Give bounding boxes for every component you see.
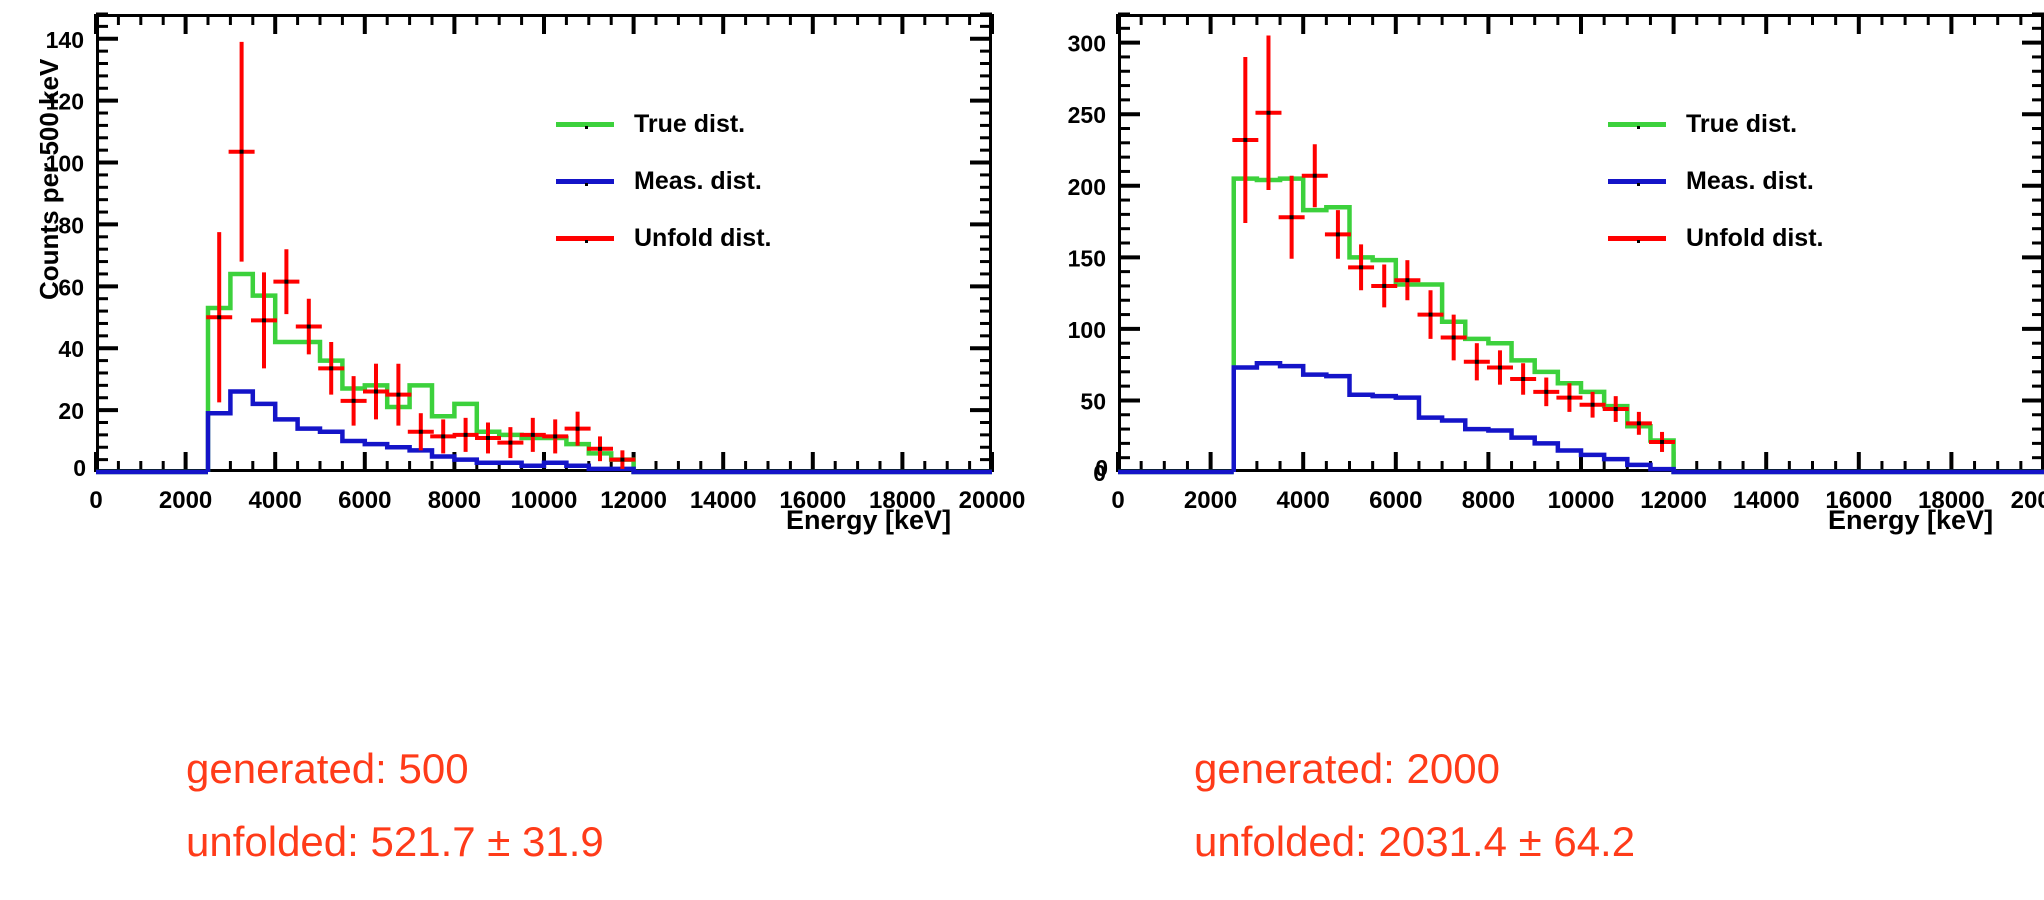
x-tick-label: 12000 — [600, 487, 667, 514]
x-tick-label: 0 — [1111, 487, 1124, 514]
plot-canvas-left: 2040608010012014000200040006000800010000… — [0, 0, 1022, 560]
data-point — [441, 434, 445, 438]
legend-item-meas-left[interactable]: Meas. dist. — [556, 167, 762, 196]
data-point — [1567, 396, 1571, 400]
data-point — [1429, 313, 1433, 317]
legend-item-meas-right[interactable]: Meas. dist. — [1608, 167, 1814, 196]
data-point — [598, 447, 602, 451]
data-point — [620, 458, 624, 462]
caption-unfolded-left: unfolded: 521.7 ± 31.9 — [186, 818, 604, 866]
x-tick-label: 14000 — [1733, 487, 1800, 514]
legend-label-meas-right: Meas. dist. — [1686, 167, 1814, 196]
x-axis-title-left: Energy [keV] — [786, 505, 951, 536]
series-true-dist — [1118, 179, 2044, 472]
caption-generated-left: generated: 500 — [186, 745, 469, 793]
data-point — [464, 433, 468, 437]
y-tick-label: 40 — [58, 336, 84, 362]
histogram-outline — [1118, 363, 2044, 472]
data-point — [329, 366, 333, 370]
legend-label-true-left: True dist. — [634, 110, 745, 139]
legend-swatch-true-right — [1608, 122, 1666, 127]
y-tick-label: 250 — [1068, 102, 1106, 128]
y-tick-label: 0 — [73, 455, 86, 481]
y-tick-label: 60 — [58, 274, 84, 300]
x-tick-label: 8000 — [1462, 487, 1515, 514]
data-point — [217, 315, 221, 319]
x-tick-label: 0 — [89, 487, 102, 514]
data-point — [1266, 111, 1270, 115]
data-point — [1637, 421, 1641, 425]
y-tick-label: 0 — [1095, 455, 1108, 481]
data-point — [352, 399, 356, 403]
y-tick-label: 100 — [46, 151, 84, 177]
x-tick-label: 4000 — [1277, 487, 1330, 514]
figure-root: Counts per 500 keV 204060801001201400020… — [0, 0, 2044, 900]
data-point — [1405, 278, 1409, 282]
x-tick-label: 4000 — [249, 487, 302, 514]
data-point — [1313, 174, 1317, 178]
data-point — [1243, 138, 1247, 142]
histogram-outline — [1118, 179, 2044, 472]
legend-item-unfold-left[interactable]: Unfold dist. — [556, 224, 771, 253]
x-tick-label: 20000 — [959, 487, 1026, 514]
data-point — [1452, 335, 1456, 339]
data-point — [262, 318, 266, 322]
caption-unfolded-right: unfolded: 2031.4 ± 64.2 — [1194, 818, 1635, 866]
panel-left: Counts per 500 keV 204060801001201400020… — [0, 0, 1022, 900]
legend-item-true-right[interactable]: True dist. — [1608, 110, 1797, 139]
series-meas-dist — [1118, 363, 2044, 472]
data-point — [576, 427, 580, 431]
x-tick-label: 20000 — [2011, 487, 2044, 514]
data-point — [240, 150, 244, 154]
data-point — [1336, 232, 1340, 236]
data-point — [396, 393, 400, 397]
y-tick-label: 200 — [1068, 174, 1106, 200]
data-point — [419, 430, 423, 434]
x-tick-label: 14000 — [690, 487, 757, 514]
y-tick-label: 80 — [58, 212, 84, 238]
legend-label-meas-left: Meas. dist. — [634, 167, 762, 196]
x-tick-label: 10000 — [511, 487, 578, 514]
series-true-dist — [96, 274, 992, 472]
x-tick-label: 8000 — [428, 487, 481, 514]
data-point — [1614, 407, 1618, 411]
data-point — [374, 390, 378, 394]
legend-swatch-unfold-right — [1608, 236, 1666, 241]
legend-swatch-unfold-left — [556, 236, 614, 241]
legend-swatch-meas-right — [1608, 179, 1666, 184]
plot-canvas-right: 0501001502002503000020004000600080001000… — [1022, 0, 2044, 560]
data-point — [307, 325, 311, 329]
histogram-outline — [96, 274, 992, 472]
y-tick-label: 150 — [1068, 245, 1106, 271]
x-tick-label: 2000 — [159, 487, 212, 514]
x-tick-label: 10000 — [1548, 487, 1615, 514]
data-point — [1359, 265, 1363, 269]
panel-right: 0501001502002503000020004000600080001000… — [1022, 0, 2044, 900]
data-point — [531, 433, 535, 437]
y-tick-label: 20 — [58, 398, 84, 424]
legend-label-unfold-left: Unfold dist. — [634, 224, 771, 253]
data-point — [486, 436, 490, 440]
data-point — [1544, 390, 1548, 394]
x-axis-title-right: Energy [keV] — [1828, 505, 1993, 536]
data-point — [1660, 440, 1664, 444]
legend-item-unfold-right[interactable]: Unfold dist. — [1608, 224, 1823, 253]
axes-group: 0501001502002503000020004000600080001000… — [1068, 14, 2044, 514]
data-point — [284, 280, 288, 284]
x-tick-label: 6000 — [1369, 487, 1422, 514]
data-point — [1591, 403, 1595, 407]
legend-swatch-true-left — [556, 122, 614, 127]
data-point — [1290, 215, 1294, 219]
x-tick-label: 12000 — [1640, 487, 1707, 514]
data-point — [553, 434, 557, 438]
caption-generated-right: generated: 2000 — [1194, 745, 1500, 793]
data-point — [1475, 360, 1479, 364]
x-tick-label: 6000 — [338, 487, 391, 514]
data-point — [1521, 377, 1525, 381]
data-point — [1382, 284, 1386, 288]
data-point — [508, 441, 512, 445]
legend-label-unfold-right: Unfold dist. — [1686, 224, 1823, 253]
y-tick-label: 50 — [1080, 388, 1106, 414]
y-tick-label: 120 — [46, 89, 84, 115]
x-tick-label: 2000 — [1184, 487, 1237, 514]
y-tick-label: 300 — [1068, 31, 1106, 57]
legend-item-true-left[interactable]: True dist. — [556, 110, 745, 139]
legend-label-true-right: True dist. — [1686, 110, 1797, 139]
data-point — [1498, 366, 1502, 370]
legend-swatch-meas-left — [556, 179, 614, 184]
y-tick-label: 140 — [46, 27, 84, 53]
y-tick-label: 100 — [1068, 317, 1106, 343]
